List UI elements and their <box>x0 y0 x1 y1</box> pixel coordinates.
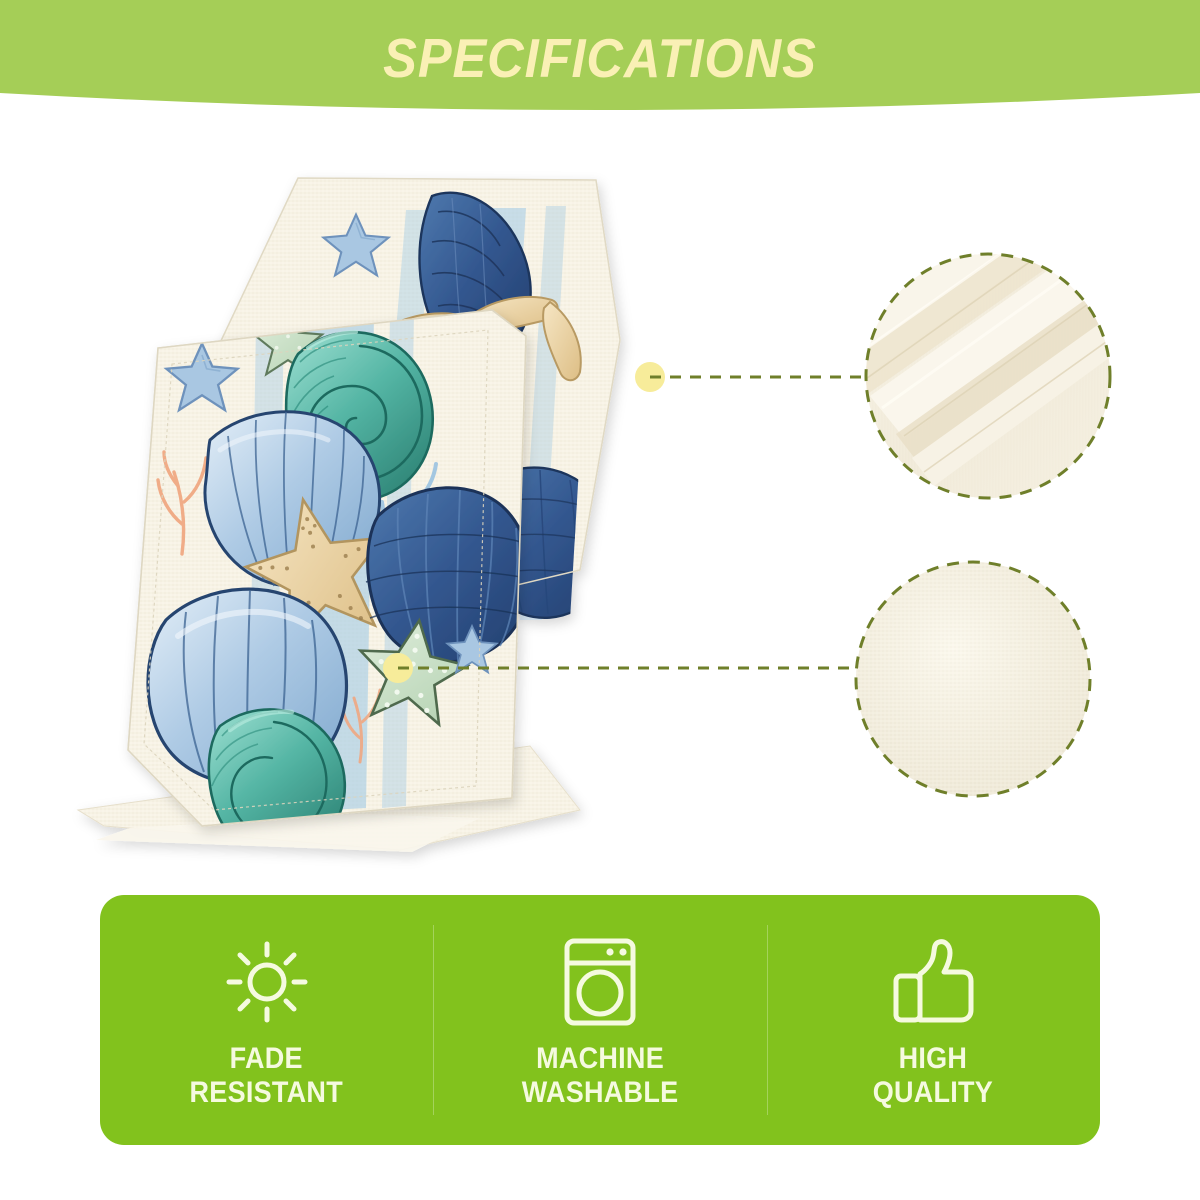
feature-label: HIGH QUALITY <box>873 1042 993 1109</box>
towel-illustration <box>60 150 760 870</box>
product-photo <box>60 150 760 870</box>
feature-high-quality: HIGH QUALITY <box>767 895 1100 1145</box>
specifications-page: SPECIFICATIONS <box>0 0 1200 1200</box>
thumbs-up-icon <box>890 936 976 1028</box>
feature-label: MACHINE WASHABLE <box>522 1042 679 1109</box>
washing-machine-icon <box>562 936 638 1028</box>
sun-icon <box>223 936 311 1028</box>
page-title: SPECIFICATIONS <box>48 26 1152 90</box>
feature-machine-washable: MACHINE WASHABLE <box>433 895 766 1145</box>
towel-main <box>128 310 534 853</box>
feature-bar: FADE RESISTANT MACHINE WASHABLE <box>100 895 1100 1145</box>
fabric-weave-detail-circle <box>850 556 1096 802</box>
pattern-scallop-navy-main <box>366 488 534 662</box>
header-banner: SPECIFICATIONS <box>0 0 1200 125</box>
feature-fade-resistant: FADE RESISTANT <box>100 895 433 1145</box>
hem-fold-detail-circle <box>860 248 1116 504</box>
feature-label: FADE RESISTANT <box>190 1042 343 1109</box>
